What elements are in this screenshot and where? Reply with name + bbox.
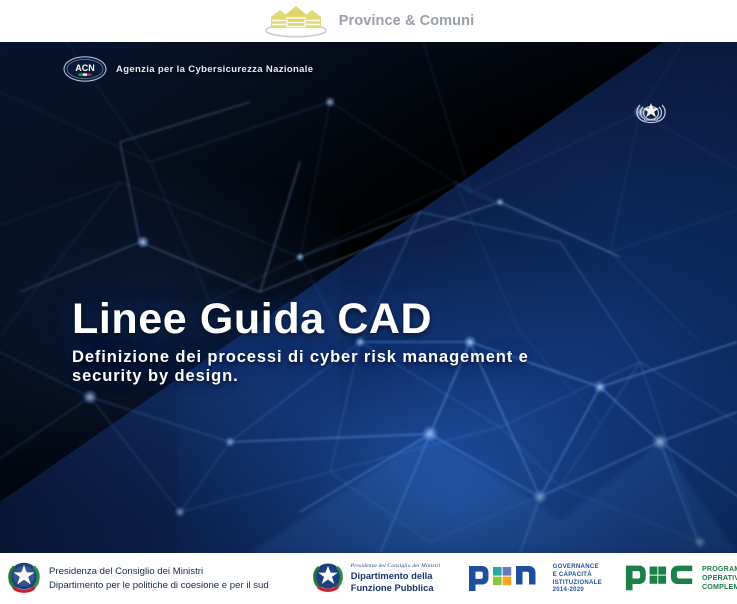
poc-caption-line-3: COMPLEMENTARE bbox=[702, 583, 737, 592]
presidenza-line-2: Dipartimento per le politiche di coesion… bbox=[49, 579, 269, 592]
pon-caption: GOVERNANCE E CAPACITÀ ISTITUZIONALE 2014… bbox=[553, 563, 602, 595]
footer-logo-bar: Presidenza del Consiglio dei Ministri Di… bbox=[0, 553, 737, 604]
acn-emblem-icon: ACN bbox=[63, 56, 107, 82]
italian-republic-emblem-icon bbox=[311, 558, 345, 599]
funzione-script-line: Presidenza del Consiglio dei Ministri bbox=[351, 563, 441, 569]
pon-caption-line-1: GOVERNANCE bbox=[553, 563, 602, 571]
page-title: Linee Guida CAD bbox=[72, 297, 632, 342]
pon-caption-line-4: 2014-2020 bbox=[553, 586, 602, 594]
document-page: Province & Comuni bbox=[0, 0, 737, 604]
pon-caption-line-3: ISTITUZIONALE bbox=[553, 579, 602, 587]
poc-caption-line-2: OPERATIVO bbox=[702, 574, 737, 583]
presidenza-line-1: Presidenza del Consiglio dei Ministri bbox=[49, 565, 269, 578]
agency-branding: ACN Agenzia per la Cybersicurezza Nazion… bbox=[63, 56, 313, 82]
hero-cover: ACN Agenzia per la Cybersicurezza Nazion… bbox=[0, 42, 737, 553]
header-title: Province & Comuni bbox=[339, 13, 474, 29]
footer-poc-logo: PROGRAMMA OPERATIVO COMPLEMENTARE bbox=[624, 559, 737, 598]
italian-republic-emblem-icon bbox=[632, 96, 670, 126]
page-subtitle: Definizione dei processi di cyber risk m… bbox=[72, 348, 537, 386]
top-header-bar: Province & Comuni bbox=[0, 0, 737, 42]
pon-logo-icon bbox=[467, 559, 547, 598]
pon-caption-line-2: E CAPACITÀ bbox=[553, 571, 602, 579]
poc-caption-line-1: PROGRAMMA bbox=[702, 565, 737, 574]
agency-label: Agenzia per la Cybersicurezza Nazionale bbox=[116, 64, 313, 75]
footer-funzione-pubblica-logo: Presidenza del Consiglio dei Ministri Di… bbox=[311, 558, 441, 599]
funzione-line-2: Funzione Pubblica bbox=[351, 582, 441, 594]
province-comuni-houses-icon bbox=[263, 4, 329, 38]
title-block: Linee Guida CAD Definizione dei processi… bbox=[72, 297, 632, 386]
poc-logo-icon bbox=[624, 559, 696, 598]
svg-text:ACN: ACN bbox=[75, 63, 95, 73]
footer-pon-logo: GOVERNANCE E CAPACITÀ ISTITUZIONALE 2014… bbox=[467, 559, 602, 598]
funzione-line-1: Dipartimento della bbox=[351, 570, 441, 582]
footer-presidenza-logo: Presidenza del Consiglio dei Ministri Di… bbox=[6, 557, 269, 600]
italian-republic-emblem-icon bbox=[6, 557, 42, 600]
poc-caption: PROGRAMMA OPERATIVO COMPLEMENTARE bbox=[702, 565, 737, 592]
